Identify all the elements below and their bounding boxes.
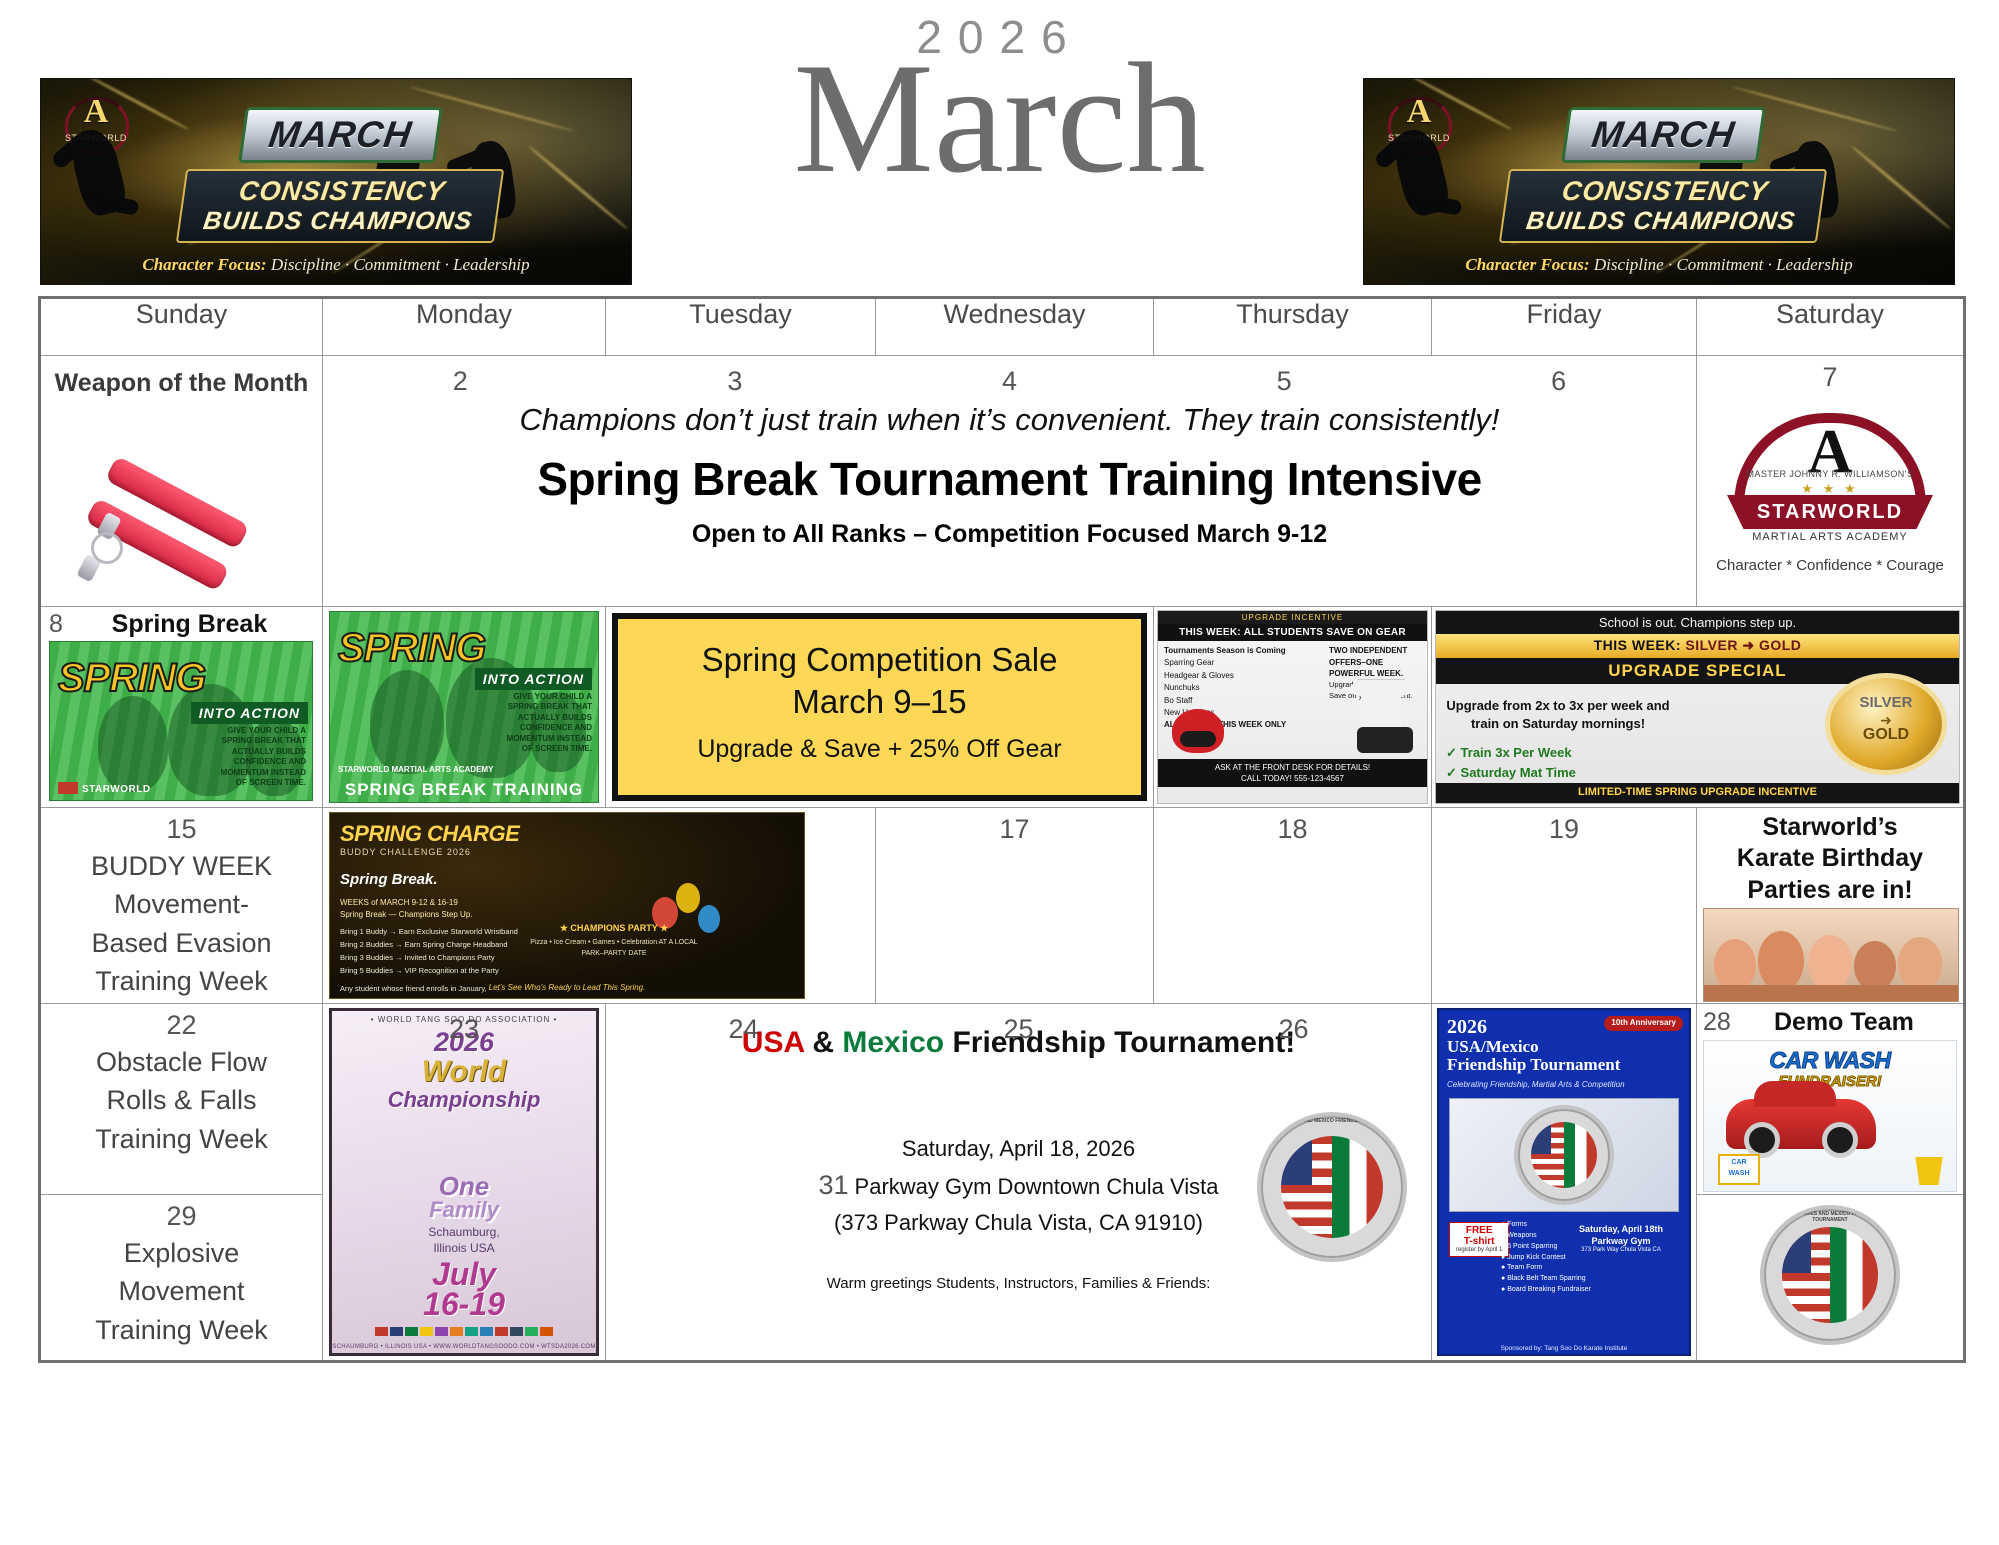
weekday-wednesday: Wednesday [876, 298, 1154, 356]
charge-spring-break: Spring Break. [340, 871, 438, 888]
event-greeting: Warm greetings Students, Instructors, Fa… [606, 1275, 1431, 1292]
tf-date-block: Saturday, April 18th Parkway Gym 373 Par… [1561, 1224, 1681, 1255]
training-line: Obstacle Flow [41, 1043, 322, 1081]
gear-sale-flyer[interactable]: UPGRADE INCENTIVE THIS WEEK: ALL STUDENT… [1157, 610, 1428, 804]
charge-title: SPRING CHARGE [340, 821, 519, 847]
week-row-1: Weapon of the Month 2 3 4 5 [40, 356, 1965, 607]
calendar-page: A STARWORLD MARCH CONSISTENCY BUILDS CHA… [0, 0, 1999, 1545]
spring-break-label: Spring Break [63, 610, 316, 639]
day-cell-21[interactable]: Starworld’s Karate Birthday Parties are … [1697, 808, 1965, 1004]
crest-stars: ★ ★ ★ [1697, 481, 1963, 497]
day-number-4: 4 [872, 360, 1147, 397]
charge-weeks: WEEKS of MARCH 9-12 & 16-19 [340, 897, 473, 909]
day-number-5: 5 [1147, 360, 1422, 397]
day-number-23: 23 [323, 1008, 605, 1045]
character-focus-values: Discipline · Commitment · Leadership [271, 255, 530, 274]
intensive-subhead: Open to All Ranks – Competition Focused … [323, 520, 1696, 549]
car-icon [1726, 1099, 1876, 1149]
day-cell-sale-span[interactable]: Spring Competition Sale March 9–15 Upgra… [606, 607, 1154, 808]
weekday-tuesday: Tuesday [606, 298, 876, 356]
sale-line-2: March 9–15 [618, 683, 1141, 721]
day-cell-28b[interactable]: UNITED STATES AND MEXICO FRIENDSHIP TOUR… [1697, 1195, 1965, 1362]
monthly-quote: Champions don’t just train when it’s con… [323, 402, 1696, 438]
weekday-thursday: Thursday [1154, 298, 1432, 356]
day-cell-9[interactable]: SPRING INTO ACTION GIVE YOUR CHILD A SPR… [323, 607, 606, 808]
charge-bullet: Bring 1 Buddy → Earn Exclusive Starworld… [340, 925, 518, 938]
wc-location: Schaumburg, Illinois USA [332, 1225, 596, 1256]
silver-gold-upgrade-flyer[interactable]: School is out. Champions step up. THIS W… [1435, 610, 1960, 804]
headgear-icon [1172, 709, 1224, 753]
day-number-29: 29 [41, 1195, 322, 1232]
upgrade-band-prefix: THIS WEEK: [1594, 637, 1681, 653]
gear-flyer-head: THIS WEEK: ALL STUDENTS SAVE ON GEAR [1158, 624, 1427, 641]
day-cell-29[interactable]: 29 Explosive Movement Training Week [40, 1195, 323, 1362]
banner-badge: MARCH CONSISTENCY BUILDS CHAMPIONS [1504, 107, 1822, 243]
day-cell-18[interactable]: 18 [1154, 808, 1432, 1004]
flyer-brand: STARWORLD [58, 782, 151, 795]
march-banner-right: A STARWORLD MARCH CONSISTENCY BUILDS CHA… [1363, 78, 1955, 285]
training-line: Training Week [41, 1311, 322, 1349]
training-line: Training Week [41, 962, 322, 1000]
day-number-18: 18 [1154, 808, 1431, 845]
usa-mexico-seal-icon: UNITED STATES AND MEXICO FRIENDSHIP TOUR… [1760, 1205, 1900, 1345]
wc-family: Family [332, 1197, 596, 1223]
calendar-grid: Sunday Monday Tuesday Wednesday Thursday… [38, 296, 1966, 1363]
usa-mexico-tournament-poster[interactable]: 2026 USA/Mexico Friendship Tournament Ce… [1437, 1008, 1691, 1356]
car-wash-fundraiser-flyer[interactable]: CAR WASH FUNDRAISER! CAR WASH [1703, 1040, 1957, 1192]
day-number-25: 25 [881, 1008, 1156, 1045]
week3-sunday-text: BUDDY WEEK Movement- Based Evasion Train… [41, 845, 322, 1000]
gear-item: Sparring Gear [1164, 657, 1286, 669]
training-line: Rolls & Falls [41, 1081, 322, 1119]
birthday-party-photo[interactable] [1703, 908, 1959, 1002]
wc-flag-row [332, 1326, 596, 1337]
day-number-17: 17 [876, 808, 1153, 845]
birthday-line: Karate Birthday [1697, 843, 1963, 874]
upgrade-top: School is out. Champions step up. [1436, 611, 1959, 634]
day-number-19: 19 [1432, 808, 1696, 845]
day-cell-weapon-of-month[interactable]: Weapon of the Month [40, 356, 323, 607]
weekday-monday: Monday [323, 298, 606, 356]
tf-venue: Parkway Gym [1561, 1236, 1681, 1248]
day-cell-7[interactable]: 7 A MASTER JOHNNY R. WILLIAMSON’S ★ ★ ★ … [1697, 356, 1965, 607]
day-number-3: 3 [598, 360, 873, 397]
day-cell-upgrade-span[interactable]: School is out. Champions step up. THIS W… [1432, 607, 1965, 808]
gear-item: Headgear & Gloves [1164, 670, 1286, 682]
character-focus: Character Focus: Discipline · Commitment… [41, 255, 631, 275]
tf-event: Forms [1507, 1221, 1527, 1228]
day-number-28: 28 [1703, 1008, 1731, 1037]
gear-item: Nunchuks [1164, 682, 1286, 694]
intensive-headline: Spring Break Tournament Training Intensi… [323, 452, 1696, 506]
day-cell-17[interactable]: 17 [876, 808, 1154, 1004]
charge-footer: Let’s See Who’s Ready to Lead This Sprin… [330, 983, 804, 992]
tf-address: 373 Park Way Chula Vista CA [1561, 1247, 1681, 1255]
day-cell-usa-mexico-span[interactable]: 24 25 26 USA & Mexico Friendship Tournam… [606, 1004, 1432, 1362]
day-number-8: 8 [49, 610, 63, 639]
flyer-brand: STARWORLD MARTIAL ARTS ACADEMY [338, 765, 493, 774]
charge-bullet: Bring 3 Buddies → Invited to Champions P… [340, 951, 518, 964]
day-number-22: 22 [41, 1004, 322, 1041]
crest-tagline: Character * Confidence * Courage [1697, 557, 1963, 574]
wc-world: World [332, 1055, 596, 1089]
tf-title: USA/Mexico Friendship Tournament [1447, 1038, 1620, 1075]
week5-sunday-text: Explosive Movement Training Week [41, 1232, 322, 1349]
birthday-line: Parties are in! [1697, 875, 1963, 906]
upgrade-check: Train 3x Per Week [1461, 745, 1572, 760]
upgrade-band-value: SILVER ➜ GOLD [1685, 637, 1801, 653]
character-focus-values: Discipline · Commitment · Leadership [1594, 255, 1853, 274]
day-cell-19[interactable]: 19 [1432, 808, 1697, 1004]
banner-line2: BUILDS CHAMPIONS [1512, 207, 1810, 236]
nunchaku-icon [69, 448, 269, 578]
day-number-7: 7 [1697, 356, 1963, 393]
training-line: Training Week [41, 1120, 322, 1158]
flyer-into-action: INTO ACTION [191, 702, 308, 724]
wc-footer: SCHAUMBURG • ILLINOIS USA • WWW.WORLDTAN… [332, 1344, 596, 1350]
training-line: BUDDY WEEK [41, 847, 322, 885]
day-cell-intensive-span[interactable]: 2 3 4 5 6 Champions don’t just train whe… [323, 356, 1697, 607]
day-cell-8[interactable]: 8 Spring Break SPRING INTO ACTION GIVE Y… [40, 607, 323, 808]
gear-item: Bo Staff [1164, 695, 1286, 707]
tf-anniversary-badge: 10th Anniversary [1604, 1016, 1683, 1031]
sale-line-3: Upgrade & Save + 25% Off Gear [618, 735, 1141, 764]
usa-mexico-seal-icon: UNITED STATES AND MEXICO FRIENDSHIP TOUR… [1257, 1112, 1407, 1262]
day-cell-27[interactable]: 2026 USA/Mexico Friendship Tournament Ce… [1432, 1004, 1697, 1362]
crest-sub: MARTIAL ARTS ACADEMY [1697, 531, 1963, 543]
charge-party-block: ★ CHAMPIONS PARTY ★ Pizza • Ice Cream • … [526, 923, 702, 959]
day-number-6: 6 [1421, 360, 1696, 397]
day-number-26: 26 [1156, 1008, 1431, 1045]
upgrade-foot: LIMITED-TIME SPRING UPGRADE INCENTIVE [1436, 783, 1959, 803]
weekday-sunday: Sunday [40, 298, 323, 356]
flyer-word: SPRING [58, 656, 205, 701]
tf-event: Black Belt Team Sparring [1507, 1275, 1585, 1282]
crest-letter: A [1380, 95, 1458, 129]
event-venue: Parkway Gym Downtown Chula Vista [855, 1174, 1219, 1199]
birthday-party-text: Starworld’s Karate Birthday Parties are … [1697, 808, 1963, 906]
charge-weeks-block: WEEKS of MARCH 9-12 & 16-19 Spring Break… [340, 897, 473, 921]
silver-gold-medal-icon: SILVER ➜ GOLD [1825, 673, 1947, 775]
carwash-title: CAR WASH [1704, 1047, 1956, 1074]
character-focus: Character Focus: Discipline · Commitment… [1364, 255, 1954, 275]
banner-line2: BUILDS CHAMPIONS [189, 207, 487, 236]
charge-party-title: ★ CHAMPIONS PARTY ★ [560, 923, 668, 933]
flyer-word: SPRING [338, 626, 485, 671]
day-number-24: 24 [606, 1008, 881, 1045]
tf-sub: Celebrating Friendship, Martial Arts & C… [1447, 1080, 1625, 1089]
sale-line-1: Spring Competition Sale [618, 641, 1141, 679]
spring-charge-buddy-flyer[interactable]: SPRING CHARGE BUDDY CHALLENGE 2026 Sprin… [329, 812, 805, 999]
charge-sub: BUDDY CHALLENGE 2026 [340, 847, 519, 857]
day-cell-15[interactable]: 15 BUDDY WEEK Movement- Based Evasion Tr… [40, 808, 323, 1004]
charge-bullet: Bring 2 Buddies → Earn Spring Charge Hea… [340, 938, 518, 951]
character-focus-label: Character Focus: [142, 255, 266, 274]
day-number-31: 31 [818, 1170, 848, 1200]
tf-event: Board Breaking Fundraiser [1507, 1286, 1591, 1293]
spring-competition-sale-box[interactable]: Spring Competition Sale March 9–15 Upgra… [612, 613, 1147, 801]
calendar-header: A STARWORLD MARCH CONSISTENCY BUILDS CHA… [0, 0, 1999, 288]
tf-event: Jump Kick Contest [1507, 1254, 1565, 1261]
tf-date: Saturday, April 18th [1561, 1224, 1681, 1236]
upgrade-check: Saturday Mat Time [1461, 765, 1576, 780]
birthday-line: Starworld’s [1697, 812, 1963, 843]
gear-flyer-foot: ASK AT THE FRONT DESK FOR DETAILS! CALL … [1158, 759, 1427, 787]
weekday-friday: Friday [1432, 298, 1697, 356]
gear-bag-icon [1357, 727, 1413, 753]
day-number-2: 2 [323, 360, 598, 397]
weekday-saturday: Saturday [1697, 298, 1965, 356]
week-row-3: 15 BUDDY WEEK Movement- Based Evasion Tr… [40, 808, 1965, 1004]
bucket-icon [1912, 1157, 1946, 1185]
flyer-copy: GIVE YOUR CHILD A SPRING BREAK THAT ACTU… [210, 726, 306, 788]
week-row-2: 8 Spring Break SPRING INTO ACTION GIVE Y… [40, 607, 1965, 808]
charge-tag: Spring Break — Champions Step Up. [340, 909, 473, 921]
training-line: Explosive [41, 1234, 322, 1272]
flyer-into-action: INTO ACTION [475, 668, 592, 690]
crest-master-line: MASTER JOHNNY R. WILLIAMSON’S [1697, 469, 1963, 479]
tf-event: Weapons [1507, 1232, 1536, 1239]
upgrade-body: Upgrade from 2x to 3x per week and train… [1446, 697, 1670, 732]
crest-name: STARWORLD [1727, 495, 1933, 529]
banner-line1: CONSISTENCY [1516, 176, 1814, 207]
tf-footer: Sponsored by: Tang Soo Do Karate Institu… [1439, 1345, 1689, 1352]
charge-bullet: Bring 5 Buddies → VIP Recognition at the… [340, 964, 518, 977]
wc-championship: Championship [332, 1087, 596, 1113]
demo-team-label: Demo Team [1731, 1008, 1957, 1037]
charge-party-body: Pizza • Ice Cream • Games • Celebration … [526, 937, 702, 959]
day-cell-22[interactable]: 22 Obstacle Flow Rolls & Falls Training … [40, 1004, 323, 1195]
character-focus-label: Character Focus: [1465, 255, 1589, 274]
starworld-academy-crest-icon: A MASTER JOHNNY R. WILLIAMSON’S ★ ★ ★ ST… [1697, 395, 1963, 585]
carwash-sign: CAR WASH [1718, 1154, 1760, 1185]
tf-event: 5 Point Sparring [1507, 1243, 1557, 1250]
training-line: Based Evasion [41, 924, 322, 962]
day-cell-16[interactable]: SPRING CHARGE BUDDY CHALLENGE 2026 Sprin… [323, 808, 876, 1004]
day-number-15: 15 [41, 808, 322, 845]
world-championship-poster[interactable]: • WORLD TANG SOO DO ASSOCIATION • 2026 W… [329, 1008, 599, 1356]
day-cell-12[interactable]: UPGRADE INCENTIVE THIS WEEK: ALL STUDENT… [1154, 607, 1432, 808]
lightning-accent [1850, 144, 1952, 230]
tf-year: 2026 [1447, 1016, 1487, 1039]
weekday-header-row: Sunday Monday Tuesday Wednesday Thursday… [40, 298, 1965, 356]
banner-month-word: MARCH [1561, 107, 1766, 163]
tf-event: Team Form [1507, 1264, 1542, 1271]
tf-flag-card [1449, 1098, 1679, 1212]
week-row-4: 22 Obstacle Flow Rolls & Falls Training … [40, 1004, 1965, 1195]
spring-into-action-flyer[interactable]: SPRING INTO ACTION GIVE YOUR CHILD A SPR… [49, 641, 313, 801]
wc-dates: July 16-19 [332, 1259, 596, 1320]
flyer-copy: GIVE YOUR CHILD A SPRING BREAK THAT ACTU… [500, 692, 592, 754]
day-cell-28[interactable]: 28 Demo Team CAR WASH FUNDRAISER! CAR WA… [1697, 1004, 1965, 1195]
weapon-of-month-title: Weapon of the Month [41, 356, 322, 399]
spring-break-training-flyer[interactable]: SPRING INTO ACTION GIVE YOUR CHILD A SPR… [329, 611, 599, 803]
gear-flyer-top: UPGRADE INCENTIVE [1158, 611, 1427, 624]
day-cell-23[interactable]: 23 • WORLD TANG SOO DO ASSOCIATION • 202… [323, 1004, 606, 1362]
flyer-footer: SPRING BREAK TRAINING [330, 780, 598, 800]
training-line: Movement [41, 1272, 322, 1310]
training-line: Movement- [41, 885, 322, 923]
week4-sunday-text: Obstacle Flow Rolls & Falls Training Wee… [41, 1041, 322, 1158]
